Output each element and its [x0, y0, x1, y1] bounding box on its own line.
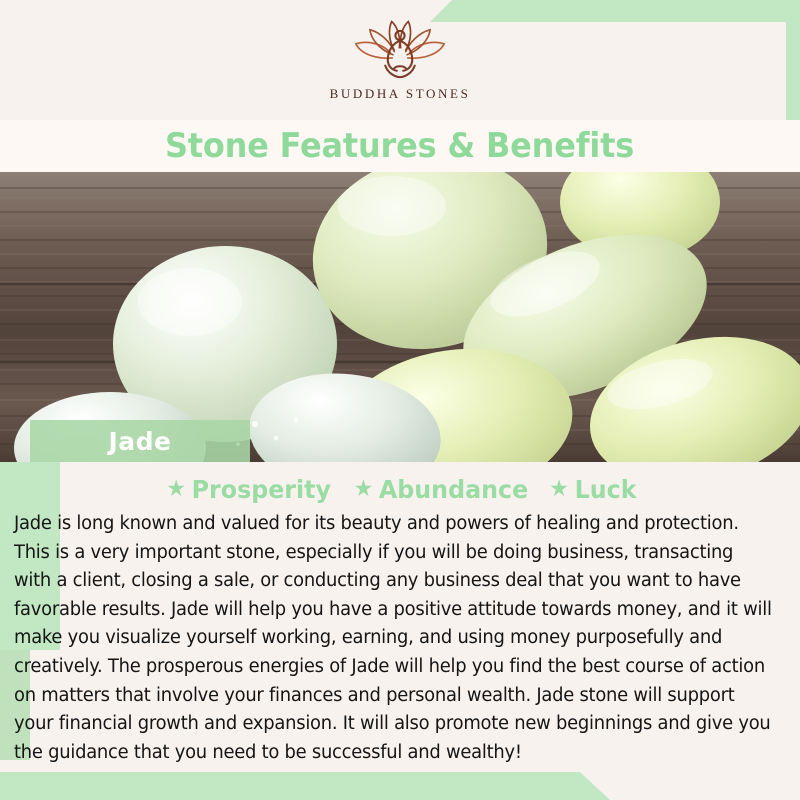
star-icon: ★ [353, 478, 373, 501]
benefit-label: Luck [574, 475, 636, 504]
benefit-item-luck: ★ Luck [549, 475, 636, 504]
stone-name-text: Jade [108, 427, 171, 456]
benefit-item-abundance: ★ Abundance [353, 475, 528, 504]
page-title: Stone Features & Benefits [165, 126, 634, 166]
stone-description: Jade is long known and valued for its be… [14, 510, 774, 767]
decorative-accent-bottom-left [0, 772, 610, 800]
star-icon: ★ [166, 478, 186, 501]
brand-name: BUDDHA STONES [330, 86, 471, 102]
stone-info-card: BUDDHA STONES Stone Features & Benefits [0, 0, 800, 800]
benefit-item-prosperity: ★ Prosperity [166, 475, 331, 504]
benefit-label: Prosperity [191, 475, 330, 504]
lotus-meditation-icon [352, 18, 448, 80]
benefit-label: Abundance [379, 475, 528, 504]
benefits-list: ★ Prosperity ★ Abundance ★ Luck [0, 472, 800, 506]
hero-image: Jade [0, 172, 800, 462]
star-icon: ★ [549, 478, 569, 501]
stone-name-label: Jade [30, 420, 250, 462]
brand-header: BUDDHA STONES [0, 0, 800, 120]
banner-title-band: Stone Features & Benefits [0, 120, 800, 172]
